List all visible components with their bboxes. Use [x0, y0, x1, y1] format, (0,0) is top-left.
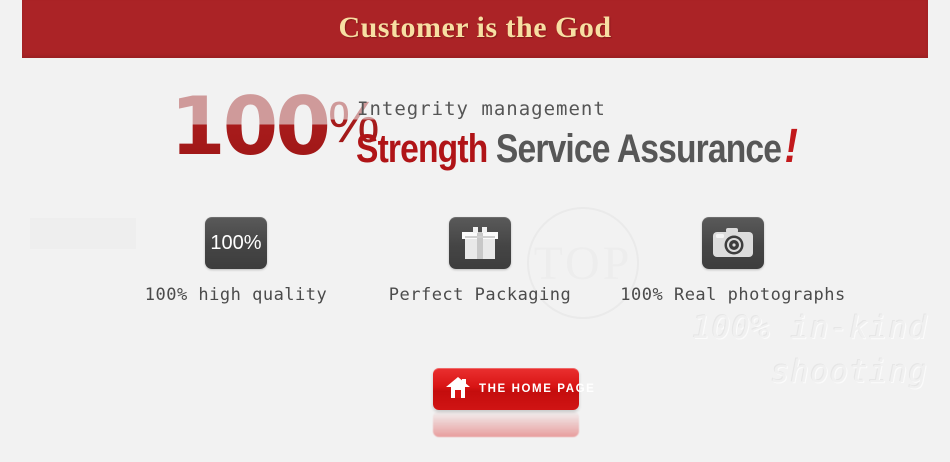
home-button-reflection	[433, 411, 579, 437]
home-button-label: THE HOME PAGE	[479, 383, 595, 395]
feature-label-photographs: 100% Real photographs	[618, 285, 848, 305]
watermark-script-line2: shooting	[598, 350, 928, 394]
feature-row: 100% 100% high quality Perfect Packaging	[0, 212, 950, 307]
headline-service: Service Assurance	[496, 127, 781, 171]
watermark-script: 100% in-kind shooting	[598, 306, 928, 394]
feature-label-packaging: Perfect Packaging	[365, 285, 595, 305]
headline-exclamation: !	[784, 120, 797, 173]
promo-banner-page: Customer is the God TOP 100% in-kind sho…	[0, 0, 950, 462]
page-title: Customer is the God	[22, 11, 928, 45]
camera-icon	[702, 217, 764, 269]
gift-box-icon	[449, 217, 511, 269]
header-banner: Customer is the God	[22, 0, 928, 58]
the-home-page-button[interactable]: THE HOME PAGE	[433, 368, 579, 410]
percent-badge-icon: 100%	[205, 217, 267, 269]
feature-item-quality: 100% 100% high quality	[121, 212, 351, 305]
hero-headline: Strength Service Assurance!	[356, 124, 797, 172]
house-icon	[446, 377, 470, 402]
hero-block: 100 % Integrity management Strength Serv…	[170, 86, 870, 176]
feature-label-quality: 100% high quality	[121, 285, 351, 305]
hero-subtitle: Integrity management	[357, 98, 606, 120]
percent-badge-label: 100%	[210, 232, 261, 255]
hero-big-number: 100	[170, 86, 328, 168]
feature-item-packaging: Perfect Packaging	[365, 212, 595, 305]
home-button-wrapper: THE HOME PAGE	[433, 368, 579, 410]
headline-strength: Strength	[356, 127, 487, 171]
feature-item-photographs: 100% Real photographs	[618, 212, 848, 305]
watermark-script-line1: 100% in-kind	[598, 306, 928, 350]
